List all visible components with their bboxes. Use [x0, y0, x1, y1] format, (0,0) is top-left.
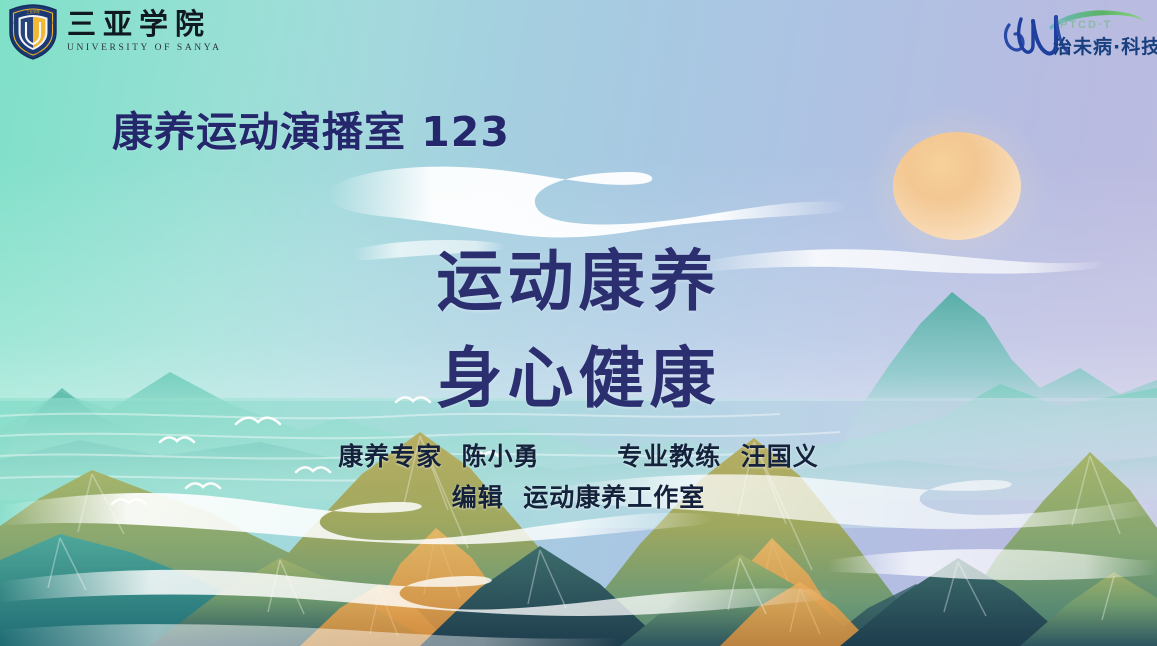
ptcd-abbr: PTCD·T — [1060, 19, 1112, 31]
university-name-en: UNIVERSITY OF SANYA — [67, 44, 222, 54]
university-name-cn: 三亚学院 — [67, 10, 222, 39]
headline-line-1: 运动康养 — [0, 228, 1157, 324]
credit-line-2: 编辑 运动康养工作室 — [0, 478, 1157, 514]
headline-line-2: 身心健康 — [0, 325, 1157, 421]
credit-line-1: 康养专家 陈小勇 专业教练 汪国义 — [0, 437, 1157, 473]
ptcd-name-cn: 治未病·科技 — [1053, 32, 1157, 59]
svg-text:三亚学院: 三亚学院 — [26, 9, 40, 14]
ptcd-logo: PTCD·T 治未病·科技 — [1001, 3, 1151, 63]
sun-disc — [893, 132, 1021, 240]
shield-crest-icon: 三亚学院 — [8, 4, 58, 60]
university-of-sanya-logo: 三亚学院 三亚学院 UNIVERSITY OF SANYA — [8, 4, 222, 60]
mountain-layer-front — [0, 500, 1157, 646]
slide-canvas: 三亚学院 三亚学院 UNIVERSITY OF SANYA PTCD·T 治未病… — [0, 0, 1157, 646]
studio-title: 康养运动演播室 123 — [112, 98, 510, 158]
